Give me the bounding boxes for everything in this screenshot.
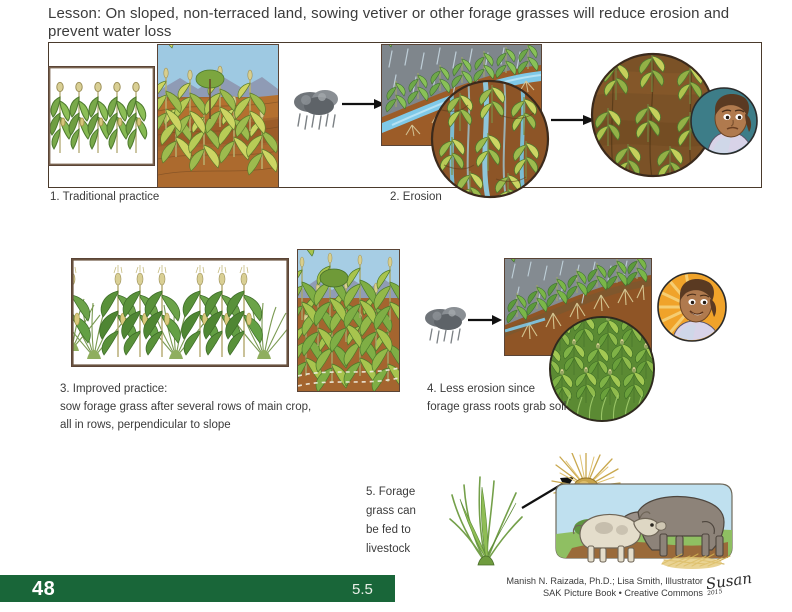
traditional-practice-panel <box>48 66 155 166</box>
caption-step-1: 1. Traditional practice <box>50 188 270 206</box>
sloped-field-with-forage-illustration <box>297 249 400 392</box>
rain-arrow-group-1 <box>292 86 387 141</box>
caption-step-5: 5. Forage grass can be fed to livestock <box>366 483 436 559</box>
sloped-maize-field-icon <box>158 45 278 187</box>
page-title: Lesson: On sloped, non-terraced land, so… <box>48 5 763 41</box>
maize-and-forage-rows-icon <box>72 259 288 366</box>
rain-cloud-icon <box>424 303 504 353</box>
credit-line-authors: Manish N. Raizada, Ph.D.; Lisa Smith, Il… <box>468 576 703 588</box>
rain-cloud-icon <box>292 86 387 141</box>
maize-rows-icon <box>49 67 154 165</box>
happy-farmer-face-icon <box>656 271 728 343</box>
credits-block: Manish N. Raizada, Ph.D.; Lisa Smith, Il… <box>468 576 703 599</box>
happy-farmer-portrait <box>656 271 728 343</box>
dense-maize-field-icon <box>298 250 399 391</box>
section-number: 5.5 <box>352 581 373 598</box>
grass-tuft-icon <box>448 467 524 567</box>
caption-step-4: 4. Less erosion since forage grass roots… <box>427 380 607 416</box>
livestock-feeding-panel <box>542 478 737 574</box>
worried-farmer-portrait <box>689 86 759 156</box>
eroded-soil-closeup-circle <box>430 79 550 199</box>
caption-step-3: 3. Improved practice: sow forage grass a… <box>60 380 390 434</box>
eroded-soil-zoom-icon <box>430 79 550 199</box>
rain-arrow-group-2 <box>424 303 504 353</box>
process-arrow-icon <box>468 315 502 325</box>
footer-bar <box>0 575 395 602</box>
credit-line-source: SAK Picture Book • Creative Commons <box>468 588 703 600</box>
forage-grass-tuft <box>448 467 524 567</box>
process-arrow-icon <box>342 99 385 109</box>
sad-farmer-face-icon <box>689 86 759 156</box>
improved-practice-panel <box>71 258 289 367</box>
lesson-page: Lesson: On sloped, non-terraced land, so… <box>0 0 792 612</box>
caption-step-2: 2. Erosion <box>390 188 540 206</box>
page-number: 48 <box>32 578 55 601</box>
livestock-scene-icon <box>542 478 737 574</box>
sloped-field-illustration <box>157 44 279 188</box>
